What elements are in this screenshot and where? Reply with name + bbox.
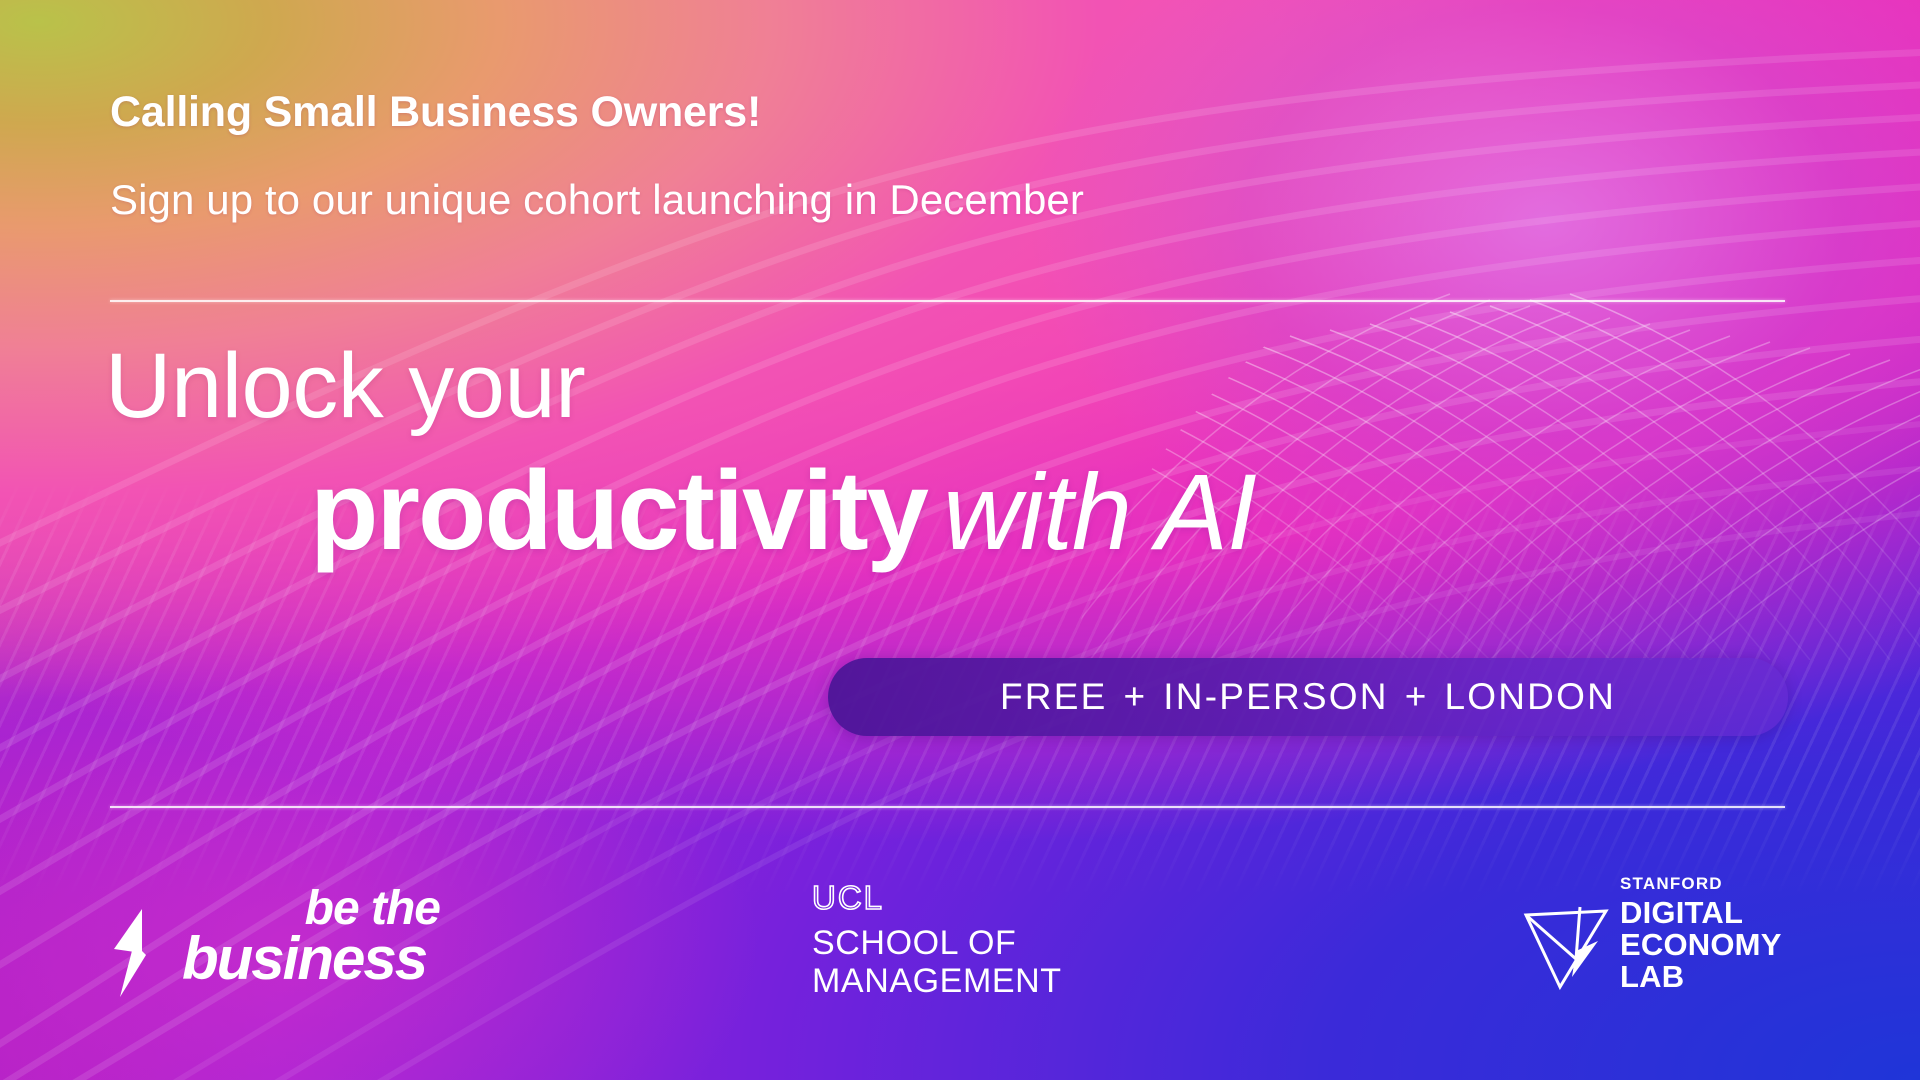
event-details-text: FREE+IN-PERSON+LONDON	[1000, 676, 1616, 718]
stanford-line-1: DIGITAL	[1620, 897, 1782, 929]
ucl-line-2: MANAGEMENT	[812, 962, 1062, 1000]
subheadline-text: Sign up to our unique cohort launching i…	[110, 176, 1084, 224]
headline-line-1: Unlock your	[105, 340, 585, 432]
divider-top	[110, 300, 1785, 302]
stanford-line-3: LAB	[1620, 961, 1782, 993]
headline-italic-words: with AI	[943, 451, 1256, 572]
promo-banner: Calling Small Business Owners! Sign up t…	[0, 0, 1920, 1080]
logo-be-the-business: be the business	[112, 883, 442, 1003]
logo-stanford-digital-economy-lab: STANFORD DIGITAL ECONOMY LAB	[1520, 875, 1820, 1005]
badge-separator-1: +	[1123, 676, 1147, 717]
eyebrow-text: Calling Small Business Owners!	[110, 88, 761, 137]
headline-bold-word: productivity	[310, 448, 927, 573]
event-details-badge: FREE+IN-PERSON+LONDON	[828, 658, 1788, 736]
triangle-prism-icon	[1520, 901, 1612, 993]
badge-item-free: FREE	[1000, 676, 1107, 717]
partner-logo-row: be the business UCL SCHOOL OF MANAGEMENT	[0, 865, 1920, 1025]
badge-separator-2: +	[1405, 676, 1429, 717]
badge-item-location: LONDON	[1445, 676, 1617, 717]
ucl-line-1: SCHOOL OF	[812, 924, 1062, 962]
badge-item-format: IN-PERSON	[1163, 676, 1388, 717]
lightning-arrow-icon	[112, 909, 170, 997]
ucl-wordmark: UCL	[812, 881, 1062, 914]
divider-bottom	[110, 806, 1785, 808]
btb-line-2: business	[182, 929, 426, 989]
headline-line-2: productivitywith AI	[310, 455, 1256, 567]
logo-ucl-school-of-management: UCL SCHOOL OF MANAGEMENT	[812, 881, 1062, 1000]
stanford-org-name: STANFORD	[1620, 875, 1782, 892]
stanford-line-2: ECONOMY	[1620, 929, 1782, 961]
